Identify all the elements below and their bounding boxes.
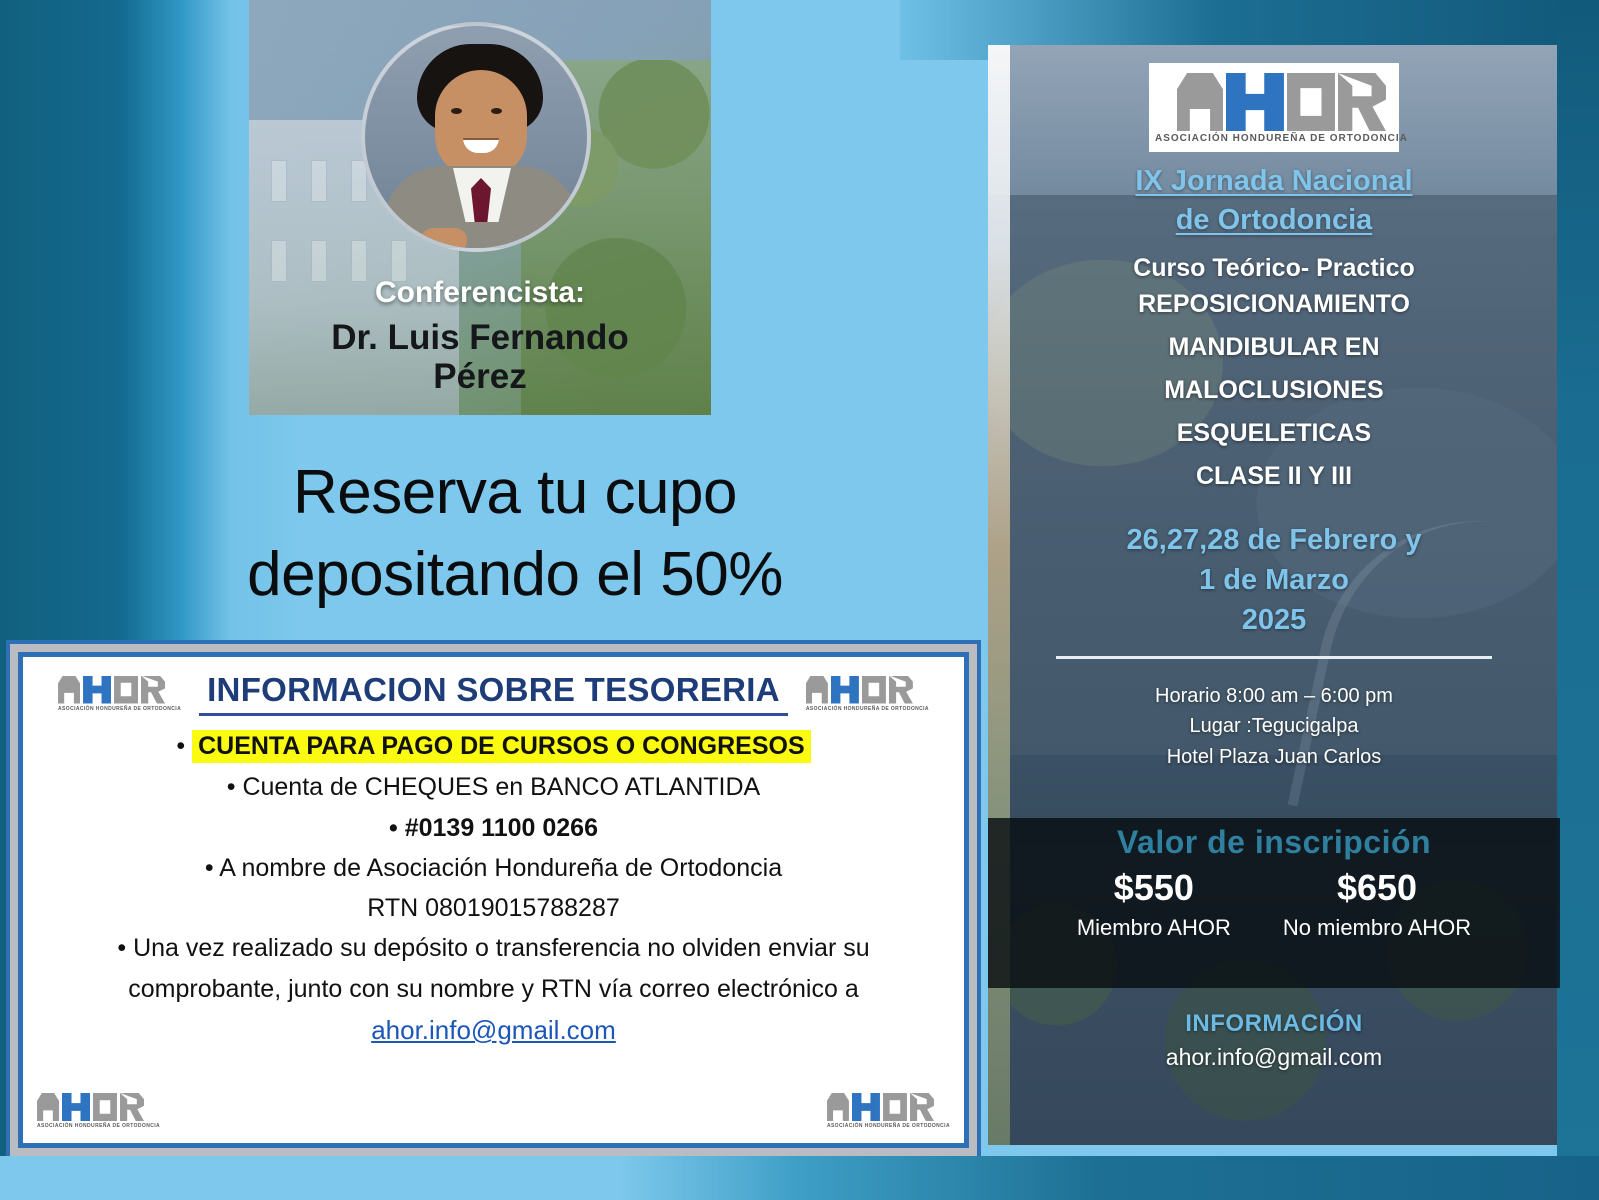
price-member: $550 Miembro AHOR — [1077, 867, 1231, 941]
logo-letter-r — [889, 676, 913, 704]
treasury-bank-line: • Cuenta de CHEQUES en BANCO ATLANTIDA — [41, 772, 946, 803]
divider — [1056, 656, 1492, 659]
price-label: No miembro AHOR — [1283, 915, 1471, 941]
logo-letter-h — [1226, 73, 1284, 131]
logo-letter-h — [831, 676, 859, 704]
logo-subtitle: ASOCIACIÓN HONDUREÑA DE ORTODONCIA — [58, 706, 181, 712]
flyer-schedule: Horario 8:00 am – 6:00 pm — [1014, 681, 1534, 711]
date-line1: 26,27,28 de Febrero y — [1014, 520, 1534, 560]
price-band: Valor de inscripción $550 Miembro AHOR $… — [988, 818, 1560, 988]
logo-letter-a — [37, 1093, 59, 1121]
course-line: ESQUELETICAS — [1014, 412, 1534, 455]
flyer-title-line2: de Ortodoncia — [1014, 201, 1534, 240]
logo-letter-a — [1177, 73, 1223, 131]
speaker-label: Conferencista: — [249, 276, 711, 310]
logo-letter-a — [827, 1093, 849, 1121]
logo-letter-r — [141, 676, 165, 704]
speaker-name-line2: Pérez — [433, 357, 526, 396]
treasury-email-row: ahor.info@gmail.com — [41, 1014, 946, 1047]
treasury-holder-line: • A nombre de Asociación Hondureña de Or… — [41, 853, 946, 884]
price-row: $550 Miembro AHOR $650 No miembro AHOR — [988, 867, 1560, 941]
event-flyer: ASOCIACIÓN HONDUREÑA DE ORTODONCIA IX Jo… — [988, 45, 1560, 1145]
presentation-slide: Conferencista: Dr. Luis Fernando Pérez R… — [0, 0, 1599, 1200]
treasury-highlight-text: CUENTA PARA PAGO DE CURSOS O CONGRESOS — [192, 730, 811, 763]
logo-letter-h — [62, 1093, 90, 1121]
treasury-header: ASOCIACIÓN HONDUREÑA DE ORTODONCIA INFOR… — [41, 671, 946, 716]
logo-subtitle: ASOCIACIÓN HONDUREÑA DE ORTODONCIA — [37, 1123, 160, 1129]
flyer-title: IX Jornada Nacional de Ortodoncia — [1014, 162, 1534, 240]
logo-letter-a — [806, 676, 828, 704]
price-amount: $550 — [1077, 867, 1231, 909]
headline-line2: depositando el 50% — [150, 534, 880, 616]
treasury-footer: ASOCIACIÓN HONDUREÑA DE ORTODONCIA ASOCI… — [37, 1093, 950, 1129]
treasury-rtn-line: RTN 08019015788287 — [41, 893, 946, 924]
headline: Reserva tu cupo depositando el 50% — [150, 452, 880, 616]
logo-letter-o — [114, 676, 138, 704]
flyer-contact: INFORMACIÓN ahor.info@gmail.com — [988, 1010, 1560, 1071]
logo-letter-o — [883, 1093, 907, 1121]
logo-letter-r — [120, 1093, 144, 1121]
flyer-content: ASOCIACIÓN HONDUREÑA DE ORTODONCIA IX Jo… — [988, 63, 1560, 772]
logo-subtitle: ASOCIACIÓN HONDUREÑA DE ORTODONCIA — [1155, 133, 1408, 144]
logo-subtitle: ASOCIACIÓN HONDUREÑA DE ORTODONCIA — [827, 1123, 950, 1129]
logo-letter-o — [93, 1093, 117, 1121]
treasury-email-link[interactable]: ahor.info@gmail.com — [371, 1015, 616, 1045]
treasury-highlight-row: • CUENTA PARA PAGO DE CURSOS O CONGRESOS — [41, 730, 946, 763]
flyer-venue: Hotel Plaza Juan Carlos — [1014, 742, 1534, 772]
speaker-name: Dr. Luis Fernando Pérez — [249, 318, 711, 396]
treasury-body: • CUENTA PARA PAGO DE CURSOS O CONGRESOS… — [41, 730, 946, 1047]
ahor-logo-footer-left: ASOCIACIÓN HONDUREÑA DE ORTODONCIA — [37, 1093, 160, 1129]
speaker-card: Conferencista: Dr. Luis Fernando Pérez — [249, 0, 711, 415]
avatar — [361, 22, 591, 252]
logo-letter-a — [58, 676, 80, 704]
flyer-place: Lugar :Tegucigalpa — [1014, 711, 1534, 741]
ahor-logo-flyer: ASOCIACIÓN HONDUREÑA DE ORTODONCIA — [1149, 63, 1399, 152]
bullet: • — [176, 732, 185, 760]
treasury-info-box: ASOCIACIÓN HONDUREÑA DE ORTODONCIA INFOR… — [6, 640, 981, 1160]
logo-letter-r — [1338, 73, 1386, 131]
date-line2: 1 de Marzo — [1014, 560, 1534, 600]
price-title: Valor de inscripción — [988, 824, 1560, 861]
treasury-title: INFORMACION SOBRE TESORERIA — [199, 671, 788, 716]
logo-letter-h — [852, 1093, 880, 1121]
logo-letter-h — [83, 676, 111, 704]
ahor-logo-left: ASOCIACIÓN HONDUREÑA DE ORTODONCIA — [58, 676, 181, 712]
flyer-subtitle: Curso Teórico- Practico — [1014, 254, 1534, 283]
treasury-instruction-line2: comprobante, junto con su nombre y RTN v… — [41, 974, 946, 1005]
logo-letter-r — [910, 1093, 934, 1121]
course-line: CLASE II Y III — [1014, 455, 1534, 498]
treasury-account-line: • #0139 1100 0266 — [41, 813, 946, 844]
flyer-logistics: Horario 8:00 am – 6:00 pm Lugar :Tegucig… — [1014, 681, 1534, 772]
price-label: Miembro AHOR — [1077, 915, 1231, 941]
logo-letter-o — [862, 676, 886, 704]
treasury-instruction-line1: • Una vez realizado su depósito o transf… — [41, 933, 946, 964]
flyer-title-line1: IX Jornada Nacional — [1014, 162, 1534, 201]
logo-letter-o — [1287, 73, 1335, 131]
flyer-dates: 26,27,28 de Febrero y 1 de Marzo 2025 — [1014, 520, 1534, 640]
slide-right-band — [1557, 0, 1599, 1200]
course-line: REPOSICIONAMIENTO — [1014, 283, 1534, 326]
ahor-logo-footer-right: ASOCIACIÓN HONDUREÑA DE ORTODONCIA — [827, 1093, 950, 1129]
flyer-info-label: INFORMACIÓN — [988, 1010, 1560, 1038]
flyer-info-email[interactable]: ahor.info@gmail.com — [988, 1044, 1560, 1071]
course-line: MANDIBULAR EN — [1014, 326, 1534, 369]
price-nonmember: $650 No miembro AHOR — [1283, 867, 1471, 941]
price-amount: $650 — [1283, 867, 1471, 909]
course-line: MALOCLUSIONES — [1014, 369, 1534, 412]
headline-line1: Reserva tu cupo — [150, 452, 880, 534]
date-line3: 2025 — [1014, 600, 1534, 640]
logo-subtitle: ASOCIACIÓN HONDUREÑA DE ORTODONCIA — [806, 706, 929, 712]
ahor-logo-right: ASOCIACIÓN HONDUREÑA DE ORTODONCIA — [806, 676, 929, 712]
speaker-name-line1: Dr. Luis Fernando — [331, 318, 629, 357]
slide-bottom-band — [0, 1156, 1599, 1200]
flyer-course-title: REPOSICIONAMIENTO MANDIBULAR EN MALOCLUS… — [1014, 283, 1534, 498]
